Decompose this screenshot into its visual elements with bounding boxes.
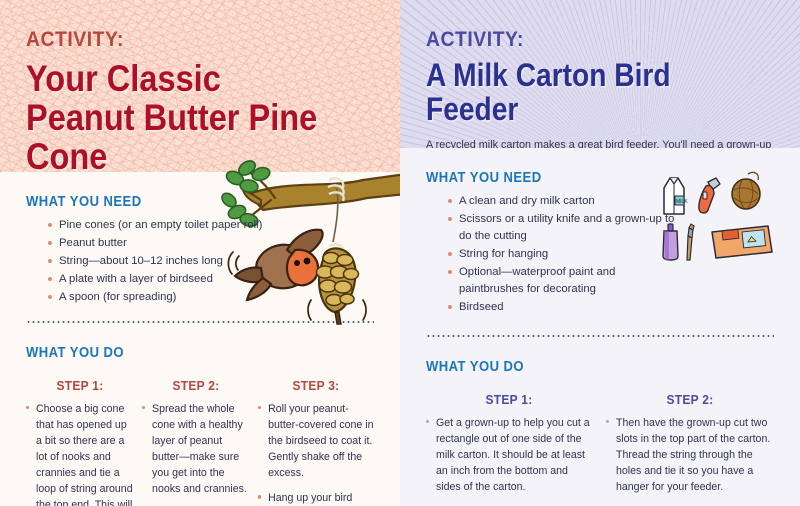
left-what-you-do-heading: WHAT YOU DO	[26, 323, 339, 368]
list-item: String for hanging	[448, 246, 680, 264]
step-bullets: Roll your peanut-butter-covered cone in …	[258, 401, 374, 506]
left-page-title: Your Classic Peanut Butter Pine Cone	[26, 59, 332, 172]
step-bullets: Spread the whole cone with a healthy lay…	[142, 401, 250, 498]
left-activity-label: ACTIVITY:	[26, 0, 346, 52]
left-step-2: STEP 2: Spread the whole cone with a hea…	[142, 378, 258, 506]
list-item: Birdseed	[448, 299, 680, 317]
left-what-you-need-heading: WHAT YOU NEED	[26, 172, 339, 217]
list-item: Optional—waterproof paint and paintbrush…	[448, 264, 680, 299]
left-header: ACTIVITY: Your Classic Peanut Butter Pin…	[0, 0, 400, 172]
list-item: A clean and dry milk carton	[448, 193, 680, 211]
list-item: A spoon (for spreading)	[48, 289, 374, 307]
right-activity-label: ACTIVITY:	[426, 0, 746, 52]
list-item: Hang up your bird feeder and watch the a…	[258, 490, 374, 506]
left-step-1: STEP 1: Choose a big cone that has opene…	[26, 378, 142, 506]
right-page-title: A Milk Carton Bird Feeder	[426, 59, 732, 127]
right-step-2: STEP 2: Then have the grown-up cut two s…	[606, 392, 774, 504]
right-steps: STEP 1: Get a grown-up to help you cut a…	[426, 382, 774, 504]
right-need-list: A clean and dry milk carton Scissors or …	[426, 193, 680, 317]
step-title: STEP 2:	[613, 392, 768, 407]
step-title: STEP 1:	[433, 392, 586, 407]
step-title: STEP 3:	[263, 378, 370, 393]
left-body: WHAT YOU NEED Pine cones (or an empty to…	[0, 172, 400, 506]
right-what-you-do-heading: WHAT YOU DO	[426, 337, 739, 382]
list-item: Spread the whole cone with a healthy lay…	[142, 401, 250, 498]
list-item: String—about 10–12 inches long	[48, 253, 374, 271]
list-item: Get a grown-up to help you cut a rectang…	[426, 415, 592, 495]
step-bullets: Get a grown-up to help you cut a rectang…	[426, 415, 592, 495]
right-what-you-need-heading: WHAT YOU NEED	[426, 148, 739, 193]
list-item: Then have the grown-up cut two slots in …	[606, 415, 774, 495]
right-header: ACTIVITY: A Milk Carton Bird Feeder A re…	[400, 0, 800, 148]
step-title: STEP 2:	[146, 378, 245, 393]
list-item: Roll your peanut-butter-covered cone in …	[258, 401, 374, 481]
left-steps: STEP 1: Choose a big cone that has opene…	[26, 368, 374, 506]
panel-milk-carton-activity: ACTIVITY: A Milk Carton Bird Feeder A re…	[400, 0, 800, 506]
list-item: Pine cones (or an empty toilet paper rol…	[48, 217, 374, 235]
list-item: Scissors or a utility knife and a grown-…	[448, 211, 680, 246]
list-item: Peanut butter	[48, 235, 374, 253]
right-step-1: STEP 1: Get a grown-up to help you cut a…	[426, 392, 606, 504]
list-item: A plate with a layer of birdseed	[48, 271, 374, 289]
panel-pine-cone-activity: ACTIVITY: Your Classic Peanut Butter Pin…	[0, 0, 400, 506]
left-step-3: STEP 3: Roll your peanut-butter-covered …	[258, 378, 374, 506]
right-intro-text: A recycled milk carton makes a great bir…	[426, 127, 774, 148]
right-body: WHAT YOU NEED A clean and dry milk carto…	[400, 148, 800, 504]
step-bullets: Choose a big cone that has opened up a b…	[26, 401, 134, 506]
step-title: STEP 1:	[30, 378, 129, 393]
left-need-list: Pine cones (or an empty toilet paper rol…	[26, 217, 374, 307]
activity-spread: ACTIVITY: Your Classic Peanut Butter Pin…	[0, 0, 800, 506]
list-item: Choose a big cone that has opened up a b…	[26, 401, 134, 506]
step-bullets: Then have the grown-up cut two slots in …	[606, 415, 774, 495]
